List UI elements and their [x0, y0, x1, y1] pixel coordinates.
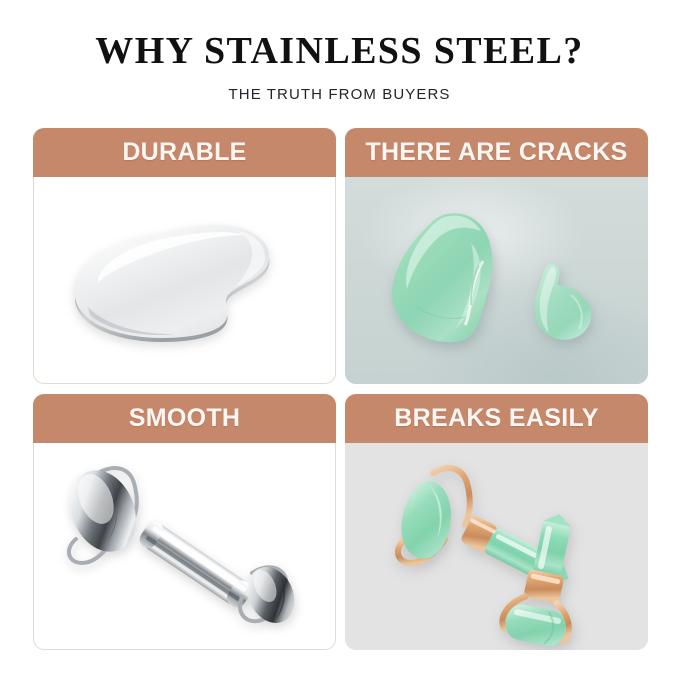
panel-body-breaks-easily	[345, 443, 648, 650]
jade-roller-lower-group	[499, 507, 592, 646]
panel-body-there-are-cracks	[345, 177, 648, 384]
panel-breaks-easily: BREAKS EASILY	[345, 394, 648, 650]
panel-durable: DURABLE	[33, 128, 336, 384]
infographic-page: WHY STAINLESS STEEL? THE TRUTH FROM BUYE…	[0, 0, 679, 679]
stainless-steel-gua-sha-image	[68, 219, 294, 345]
page-subtitle: THE TRUTH FROM BUYERS	[0, 86, 679, 103]
jade-roller-stone-large	[397, 478, 456, 562]
panel-title-smooth: SMOOTH	[129, 406, 241, 431]
panel-title-durable: DURABLE	[122, 140, 246, 165]
jade-face-roller-broken-image	[367, 451, 629, 646]
panel-title-there-are-cracks: THERE ARE CRACKS	[365, 140, 627, 165]
panel-there-are-cracks: THERE ARE CRACKS	[345, 128, 648, 384]
roller-handle	[137, 518, 255, 611]
jade-gua-sha-small-fragment	[525, 259, 597, 344]
jade-gua-sha-large-fragment	[387, 209, 522, 349]
panel-header-durable: DURABLE	[33, 128, 336, 177]
panel-body-smooth	[33, 443, 336, 650]
panel-header-there-are-cracks: THERE ARE CRACKS	[345, 128, 648, 177]
panel-title-breaks-easily: BREAKS EASILY	[394, 406, 598, 431]
panel-body-durable	[33, 177, 336, 384]
jade-gua-sha-scene	[345, 177, 648, 384]
panel-header-smooth: SMOOTH	[33, 394, 336, 443]
panel-smooth: SMOOTH	[33, 394, 336, 650]
page-title: WHY STAINLESS STEEL?	[0, 29, 679, 73]
panel-header-breaks-easily: BREAKS EASILY	[345, 394, 648, 443]
stainless-steel-face-roller-image	[46, 455, 326, 640]
